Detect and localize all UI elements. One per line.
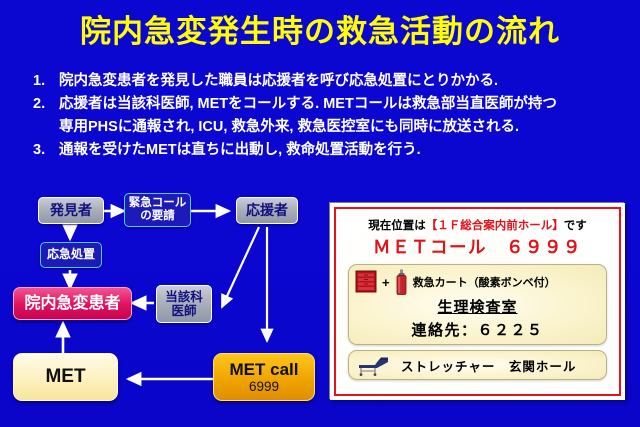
flow-node-label-line1: 当該科 — [165, 290, 203, 304]
bullet-number-2: 2. — [33, 93, 59, 116]
page-title: 院内急変発生時の救急活動の流れ — [0, 14, 640, 50]
met-call-number-line: ＭＥＴコール ６９９９ — [344, 234, 611, 259]
flow-node-label-line2: 医師 — [171, 304, 196, 318]
flow-node-label: 発見者 — [50, 203, 92, 219]
emergency-cart-card: + 救急カート（酸素ボンベ付） 生理検査室 連絡先：６２２５ — [348, 264, 607, 345]
oxygen-cylinder-icon — [395, 269, 408, 295]
flow-node-first-aid[interactable]: 応急処置 — [40, 242, 102, 268]
slide-canvas: 院内急変発生時の救急活動の流れ 1. 院内急変患者を発見した職員は応援者を呼び応… — [0, 0, 640, 427]
bullet-item-2: 2. 応援者は当該科医師, METをコールする. METコールは救急部当直医師が… — [33, 93, 633, 139]
current-location-prefix: 現在位置は — [368, 220, 426, 232]
bullet-text-3: 通報を受けたMETは直ちに出動し, 救命処置活動を行う. — [59, 139, 633, 162]
flow-node-met-call[interactable]: MET call 6999 — [213, 353, 315, 401]
location-info-panel: 現在位置は【１Ｆ総合案内前ホール】です ＭＥＴコール ６９９９ — [330, 203, 625, 400]
arrow-supporter-to-doctor — [222, 227, 259, 307]
flow-node-supporter[interactable]: 応援者 — [236, 197, 298, 224]
cart-label: 救急カート（酸素ボンベ付） — [413, 274, 556, 290]
flow-node-sublabel: 6999 — [249, 379, 279, 394]
flow-node-dept-doctor[interactable]: 当該科 医師 — [156, 285, 212, 323]
current-location-line: 現在位置は【１Ｆ総合案内前ホール】です — [344, 217, 611, 233]
bullet-text-2: 応援者は当該科医師, METをコールする. METコールは救急部当直医師が持つ … — [59, 93, 633, 139]
flow-node-label: MET call — [230, 360, 299, 379]
bullet-line: 通報を受けたMETは直ちに出動し, 救命処置活動を行う. — [59, 139, 633, 162]
flow-node-label-line2: の要請 — [140, 210, 175, 223]
bullet-number-1: 1. — [33, 70, 59, 93]
flow-node-discoverer[interactable]: 発見者 — [38, 197, 104, 224]
flow-node-emergency-call-request[interactable]: 緊急コール の要請 — [124, 193, 191, 227]
flowchart: 発見者 緊急コール の要請 応援者 応急処置 院内急変患者 当該科 医師 MET… — [0, 185, 330, 427]
bullet-item-3: 3. 通報を受けたMETは直ちに出動し, 救命処置活動を行う. — [33, 139, 633, 162]
stretcher-card: ストレッチャー 玄関ホール — [348, 350, 607, 380]
flow-node-label: MET — [45, 366, 85, 387]
flow-node-met[interactable]: MET — [13, 353, 118, 401]
stretcher-icon — [355, 354, 393, 376]
flow-node-label: 応急処置 — [47, 248, 95, 261]
current-location-value: 【１Ｆ総合案内前ホール】 — [426, 220, 564, 232]
bullet-list: 1. 院内急変患者を発見した職員は応援者を呼び応急処置にとりかかる. 2. 応援… — [33, 70, 633, 162]
flow-node-label: 院内急変患者 — [24, 295, 120, 313]
stretcher-label: ストレッチャー 玄関ホール — [401, 356, 576, 375]
plus-sign: + — [382, 275, 390, 290]
flow-node-label: 応援者 — [246, 203, 288, 219]
flow-node-patient[interactable]: 院内急変患者 — [13, 287, 132, 320]
cart-icon-row: + 救急カート（酸素ボンベ付） — [355, 269, 600, 295]
current-location-suffix: です — [564, 220, 587, 232]
bullet-line: 院内急変患者を発見した職員は応援者を呼び応急処置にとりかかる. — [59, 70, 633, 93]
cart-room: 生理検査室 — [355, 296, 600, 317]
bullet-text-1: 院内急変患者を発見した職員は応援者を呼び応急処置にとりかかる. — [59, 70, 633, 93]
cart-contact: 連絡先：６２２５ — [355, 319, 600, 340]
bullet-line: 応援者は当該科医師, METをコールする. METコールは救急部当直医師が持つ — [59, 93, 633, 116]
bullet-number-3: 3. — [33, 139, 59, 162]
emergency-cart-icon — [355, 270, 377, 294]
flow-node-label-line1: 緊急コール — [129, 197, 187, 210]
bullet-item-1: 1. 院内急変患者を発見した職員は応援者を呼び応急処置にとりかかる. — [33, 70, 633, 93]
bullet-line: 専用PHSに通報され, ICU, 救急外来, 救急医控室にも同時に放送される. — [59, 116, 633, 139]
panel-inner-border: 現在位置は【１Ｆ総合案内前ホール】です ＭＥＴコール ６９９９ — [334, 207, 621, 396]
